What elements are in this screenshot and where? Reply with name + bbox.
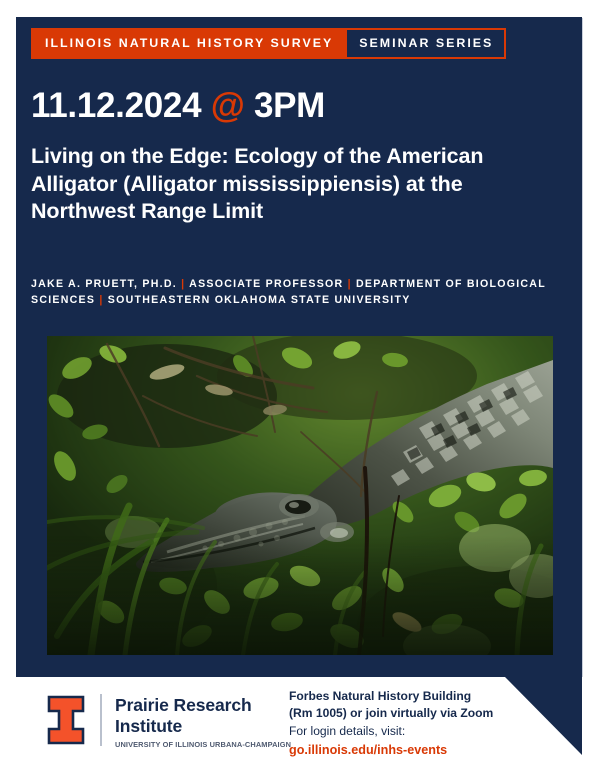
at-symbol: @ <box>211 86 245 125</box>
banner-series-label: SEMINAR SERIES <box>359 37 493 49</box>
event-time: 3PM <box>254 86 325 125</box>
venue-room-and-zoom: (Rm 1005) or join virtually via Zoom <box>289 705 559 722</box>
banner-organization-label: ILLINOIS NATURAL HISTORY SURVEY <box>45 37 333 49</box>
event-datetime: 11.12.2024 @ 3PM <box>31 88 325 123</box>
event-date: 11.12.2024 <box>31 86 201 125</box>
seminar-poster: ILLINOIS NATURAL HISTORY SURVEY SEMINAR … <box>0 0 600 776</box>
logo-wordmark: Prairie Research Institute UNIVERSITY OF… <box>115 694 291 749</box>
venue-building: Forbes Natural History Building <box>289 688 559 705</box>
institute-name: Prairie Research Institute <box>115 695 291 736</box>
speaker-separator-1: | <box>181 278 185 290</box>
university-tagline: UNIVERSITY OF ILLINOIS URBANA-CHAMPAIGN <box>115 740 291 749</box>
talk-title: Living on the Edge: Ecology of the Ameri… <box>31 143 531 226</box>
prairie-research-institute-logo: Prairie Research Institute UNIVERSITY OF… <box>46 694 291 749</box>
speaker-name: JAKE A. PRUETT, PH.D. <box>31 278 177 290</box>
login-details-note: For login details, visit: <box>289 723 559 740</box>
speaker-institution: SOUTHEASTERN OKLAHOMA STATE UNIVERSITY <box>108 294 411 306</box>
speaker-credit: JAKE A. PRUETT, PH.D. | ASSOCIATE PROFES… <box>31 276 551 308</box>
alligator-photo <box>47 336 553 655</box>
illinois-block-i-icon <box>46 694 86 746</box>
banner-organization-block: ILLINOIS NATURAL HISTORY SURVEY <box>31 28 346 59</box>
speaker-separator-2: | <box>348 278 352 290</box>
banner-series-block: SEMINAR SERIES <box>345 28 506 59</box>
speaker-separator-3: | <box>99 294 103 306</box>
venue-info: Forbes Natural History Building (Rm 1005… <box>289 688 559 759</box>
event-url-link[interactable]: go.illinois.edu/inhs-events <box>289 741 559 759</box>
speaker-rank: ASSOCIATE PROFESSOR <box>189 278 343 290</box>
header-banner: ILLINOIS NATURAL HISTORY SURVEY SEMINAR … <box>31 28 506 59</box>
logo-divider <box>100 694 102 746</box>
